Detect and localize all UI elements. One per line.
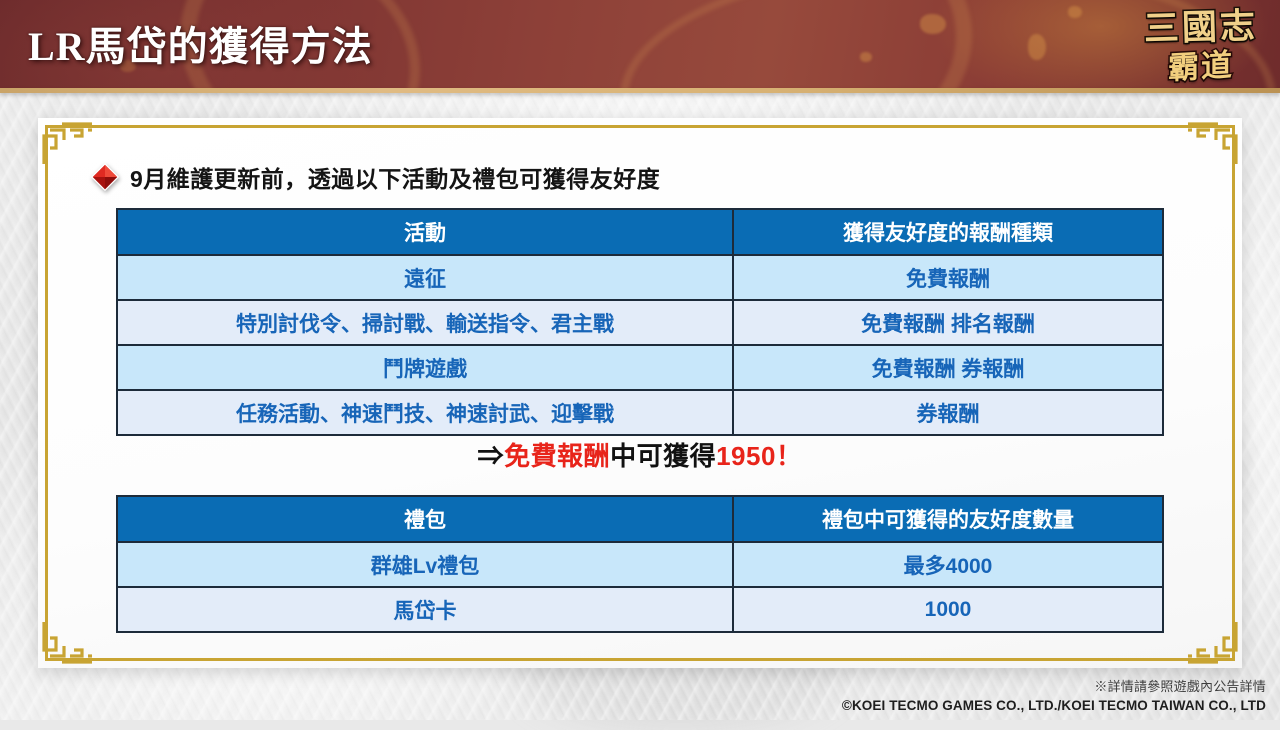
red-diamond-gem-icon (90, 162, 120, 192)
table-row: 群雄Lv禮包 最多4000 (117, 542, 1163, 587)
table-header-row: 活動 獲得友好度的報酬種類 (117, 209, 1163, 255)
frame-corner-ornament-top-left (40, 120, 96, 166)
cell-pack-amount: 1000 (733, 587, 1163, 632)
table-row: 鬥牌遊戲 免費報酬 券報酬 (117, 345, 1163, 390)
header-speck (1028, 34, 1046, 60)
summary-highlight-amount: 1950！ (716, 441, 802, 471)
cell-pack: 群雄Lv禮包 (117, 542, 733, 587)
header-divider-rule (0, 88, 1280, 93)
column-header-reward-types: 獲得友好度的報酬種類 (733, 209, 1163, 255)
summary-highlight-reward: 免費報酬 (504, 441, 610, 471)
cell-activity: 鬥牌遊戲 (117, 345, 733, 390)
packs-table: 禮包 禮包中可獲得的友好度數量 群雄Lv禮包 最多4000 馬岱卡 1000 (116, 495, 1164, 633)
cell-reward: 免費報酬 (733, 255, 1163, 300)
cell-activity: 特別討伐令、掃討戰、輸送指令、君主戰 (117, 300, 733, 345)
footer-copyright: ©KOEI TECMO GAMES CO., LTD./KOEI TECMO T… (842, 698, 1266, 713)
cell-activity: 任務活動、神速鬥技、神速討武、迎擊戰 (117, 390, 733, 435)
cell-reward: 券報酬 (733, 390, 1163, 435)
footer-note: ※詳情請參照遊戲內公告詳情 (1094, 676, 1266, 695)
summary-middle-text: 中可獲得 (610, 441, 716, 471)
header-speck (860, 52, 872, 62)
header-speck (920, 14, 946, 34)
cell-pack-amount: 最多4000 (733, 542, 1163, 587)
table-row: 馬岱卡 1000 (117, 587, 1163, 632)
cell-pack: 馬岱卡 (117, 587, 733, 632)
column-header-activity: 活動 (117, 209, 733, 255)
content-panel: 9月維護更新前，透過以下活動及禮包可獲得友好度 活動 獲得友好度的報酬種類 遠征… (38, 118, 1242, 668)
table-row: 特別討伐令、掃討戰、輸送指令、君主戰 免費報酬 排名報酬 (117, 300, 1163, 345)
frame-corner-ornament-bottom-left (40, 620, 96, 666)
table-row: 遠征 免費報酬 (117, 255, 1163, 300)
summary-arrow: ⇒ (478, 441, 505, 471)
game-logo-subtitle: 霸道 (1132, 47, 1270, 85)
summary-line: ⇒免費報酬中可獲得1950！ (38, 436, 1242, 473)
game-logo-title: 三國志 (1132, 8, 1271, 47)
cell-reward: 免費報酬 排名報酬 (733, 300, 1163, 345)
game-logo: 三國志 霸道 (1132, 2, 1270, 114)
column-header-pack: 禮包 (117, 496, 733, 542)
frame-corner-ornament-top-right (1184, 120, 1240, 166)
section-heading: 9月維護更新前，透過以下活動及禮包可獲得友好度 (90, 160, 660, 194)
header-speck (1068, 6, 1082, 18)
frame-corner-ornament-bottom-right (1184, 620, 1240, 666)
page-title: LR馬岱的獲得方法 (28, 14, 373, 72)
column-header-pack-amount: 禮包中可獲得的友好度數量 (733, 496, 1163, 542)
cell-reward: 免費報酬 券報酬 (733, 345, 1163, 390)
table-header-row: 禮包 禮包中可獲得的友好度數量 (117, 496, 1163, 542)
section-heading-text: 9月維護更新前，透過以下活動及禮包可獲得友好度 (130, 160, 660, 194)
table-row: 任務活動、神速鬥技、神速討武、迎擊戰 券報酬 (117, 390, 1163, 435)
activities-table: 活動 獲得友好度的報酬種類 遠征 免費報酬 特別討伐令、掃討戰、輸送指令、君主戰… (116, 208, 1164, 436)
cell-activity: 遠征 (117, 255, 733, 300)
